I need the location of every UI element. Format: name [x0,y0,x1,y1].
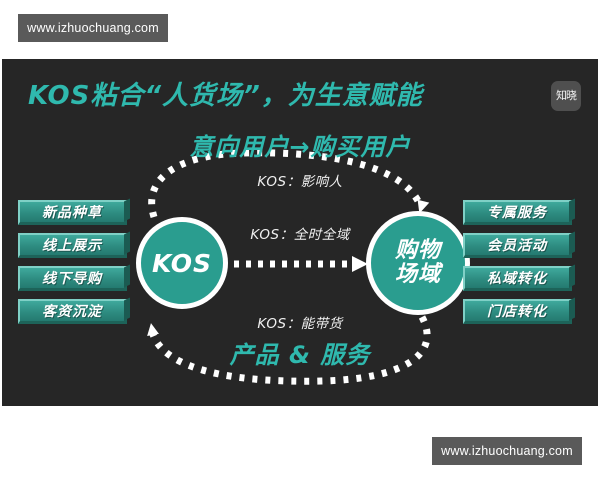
node-shopping-field-line1: 购物 [395,239,441,263]
dark-panel: KOS粘合“人货场”，为生意赋能 知晓 意向用户→购买用户 KOS：影响人 KO… [2,59,598,406]
node-kos: KOS [136,217,228,309]
right-tag-3[interactable]: 私域转化 [463,266,572,291]
flow-label-top: 意向用户→购买用户 [2,127,598,162]
left-tag-2[interactable]: 线上展示 [18,233,127,258]
left-tag-4[interactable]: 客资沉淀 [18,299,127,324]
flow-label-bottom: 产品 & 服务 [2,335,598,370]
page-title: KOS粘合“人货场”，为生意赋能 [28,75,423,112]
poster-canvas: www.izhuochuang.com KOS粘合“人货场”，为生意赋能 知晓 … [0,0,600,480]
right-tag-2[interactable]: 会员活动 [463,233,572,258]
right-tag-4[interactable]: 门店转化 [463,299,572,324]
node-kos-label: KOS [152,250,212,277]
right-tag-1[interactable]: 专属服务 [463,200,572,225]
watermark-top: www.izhuochuang.com [18,14,168,42]
left-tag-3[interactable]: 线下导购 [18,266,127,291]
left-tag-1[interactable]: 新品种草 [18,200,127,225]
node-shopping-field-line2: 场域 [395,263,441,287]
brand-badge: 知晓 [551,81,581,111]
watermark-bottom: www.izhuochuang.com [432,437,582,465]
flow-caption-top: KOS：影响人 [2,170,598,190]
node-shopping-field: 购物 场域 [366,211,470,315]
